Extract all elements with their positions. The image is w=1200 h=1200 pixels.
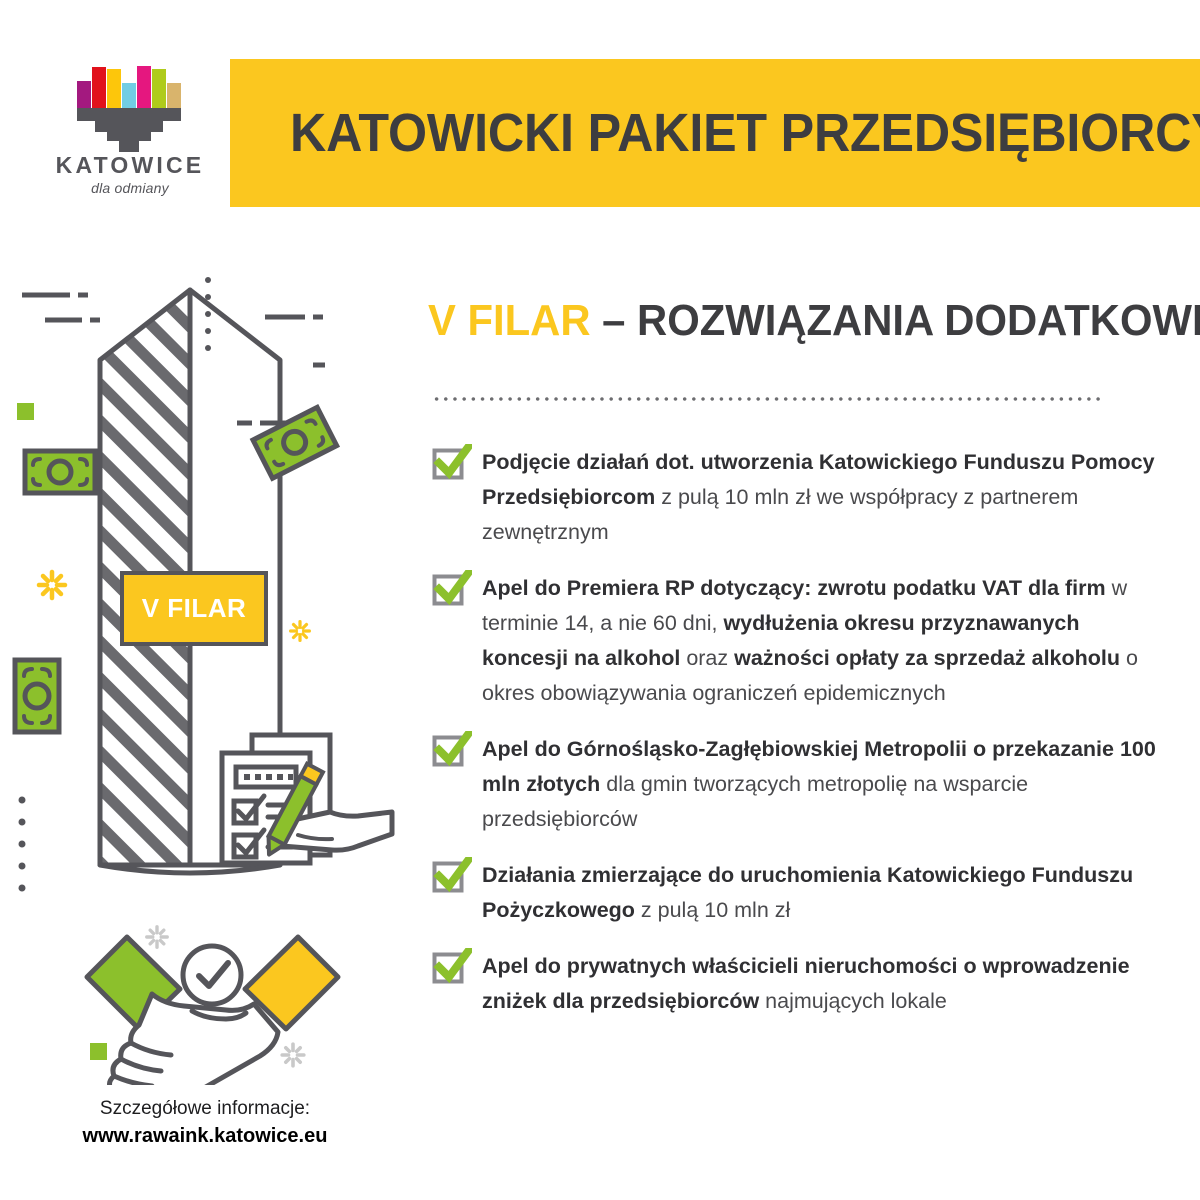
accent-square-icon	[90, 1043, 107, 1060]
bullet-item: Podjęcie działań dot. utworzenia Katowic…	[428, 444, 1168, 550]
bullet-item: Apel do prywatnych właścicieli nieruchom…	[428, 948, 1168, 1019]
header-bar: KATOWICKI PAKIET PRZEDSIĘBIORCY	[230, 59, 1200, 207]
logo-color-bars	[77, 64, 181, 109]
logo-bar-7	[167, 83, 181, 109]
handshake-icon	[75, 915, 350, 1085]
banknote-icon	[15, 660, 59, 732]
footer: Szczegółowe informacje: www.rawaink.kato…	[0, 1095, 410, 1150]
dotted-divider	[432, 396, 1102, 402]
logo-bar-3	[107, 69, 121, 109]
bullet-item: Apel do Górnośląsko-Zagłębiowskiej Metro…	[428, 731, 1168, 837]
bullet-item: Apel do Premiera RP dotyczący: zwrotu po…	[428, 570, 1168, 711]
green-checkmark-icon	[428, 570, 482, 604]
page-title: KATOWICKI PAKIET PRZEDSIĘBIORCY	[290, 102, 1200, 164]
bullet-text: Podjęcie działań dot. utworzenia Katowic…	[482, 444, 1168, 550]
green-checkmark-icon	[428, 444, 482, 478]
banknote-icon	[25, 451, 95, 493]
footer-label: Szczegółowe informacje:	[0, 1095, 410, 1122]
section-title-rest: – ROZWIĄZANIA DODATKOWE	[591, 296, 1200, 345]
bullet-text: Apel do prywatnych właścicieli nieruchom…	[482, 948, 1168, 1019]
bullet-item: Działania zmierzające do uruchomienia Ka…	[428, 857, 1168, 928]
logo-heart-icon	[77, 108, 181, 152]
logo-bar-5	[137, 66, 151, 109]
section-title: V FILAR – ROZWIĄZANIA DODATKOWE	[428, 296, 1200, 346]
bullet-text: Apel do Premiera RP dotyczący: zwrotu po…	[482, 570, 1168, 711]
bullet-text: Działania zmierzające do uruchomienia Ka…	[482, 857, 1168, 928]
v-filar-badge: V FILAR	[120, 571, 268, 646]
green-checkmark-icon	[428, 731, 482, 765]
green-checkmark-icon	[428, 857, 482, 891]
logo-wordmark: KATOWICE	[55, 152, 205, 179]
infographic-page: KATOWICE dla odmiany KATOWICKI PAKIET PR…	[0, 0, 1200, 1200]
footer-url: www.rawaink.katowice.eu	[0, 1122, 410, 1150]
decor-dots-left	[19, 797, 26, 892]
green-checkmark-icon	[428, 948, 482, 982]
accent-square-icon	[17, 403, 34, 420]
bullet-list: Podjęcie działań dot. utworzenia Katowic…	[428, 444, 1168, 1039]
bullet-text: Apel do Górnośląsko-Zagłębiowskiej Metro…	[482, 731, 1168, 837]
logo-bar-1	[77, 81, 91, 109]
logo-bar-4	[122, 83, 136, 109]
logo-tagline: dla odmiany	[55, 180, 205, 196]
katowice-logo: KATOWICE dla odmiany	[55, 60, 205, 200]
logo-bar-6	[152, 69, 166, 109]
logo-bar-2	[92, 67, 106, 109]
section-title-accent: V FILAR	[428, 296, 591, 345]
